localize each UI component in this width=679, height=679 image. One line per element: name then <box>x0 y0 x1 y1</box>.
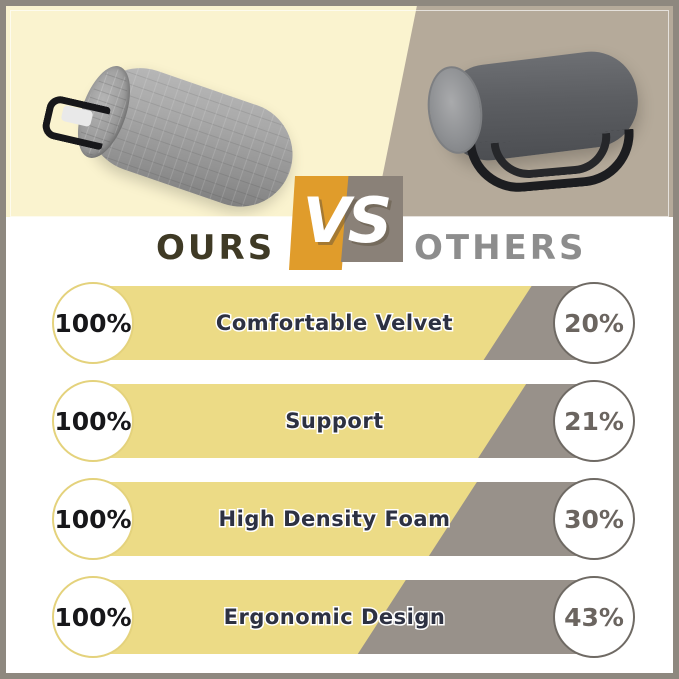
ours-percent-badge: 100% <box>52 478 134 560</box>
comparison-row: Support100%21% <box>6 380 673 462</box>
comparison-row-label: Ergonomic Design <box>70 580 617 654</box>
vs-badge-label: VS <box>289 176 403 270</box>
comparison-row: Ergonomic Design100%43% <box>6 576 673 658</box>
others-product-image <box>420 52 660 192</box>
others-percent-badge: 20% <box>553 282 635 364</box>
ours-percent-badge: 100% <box>52 576 134 658</box>
comparison-row: Comfortable Velvet100%20% <box>6 282 673 364</box>
ours-percent-badge: 100% <box>52 380 134 462</box>
comparison-row-label: Comfortable Velvet <box>70 286 617 360</box>
comparison-row-label: High Density Foam <box>70 482 617 556</box>
ours-product-image <box>42 56 302 176</box>
comparison-infographic: VS OURS OTHERS Comfortable Velvet100%20%… <box>0 0 679 679</box>
comparison-row-label: Support <box>70 384 617 458</box>
ours-percent-badge: 100% <box>52 282 134 364</box>
comparison-rows: Comfortable Velvet100%20%Support100%21%H… <box>6 282 673 674</box>
others-percent-badge: 21% <box>553 380 635 462</box>
others-percent-badge: 30% <box>553 478 635 560</box>
heading-others: OTHERS <box>414 228 586 268</box>
heading-ours: OURS <box>156 228 275 268</box>
others-percent-badge: 43% <box>553 576 635 658</box>
comparison-row: High Density Foam100%30% <box>6 478 673 560</box>
vs-badge: VS <box>289 176 403 270</box>
